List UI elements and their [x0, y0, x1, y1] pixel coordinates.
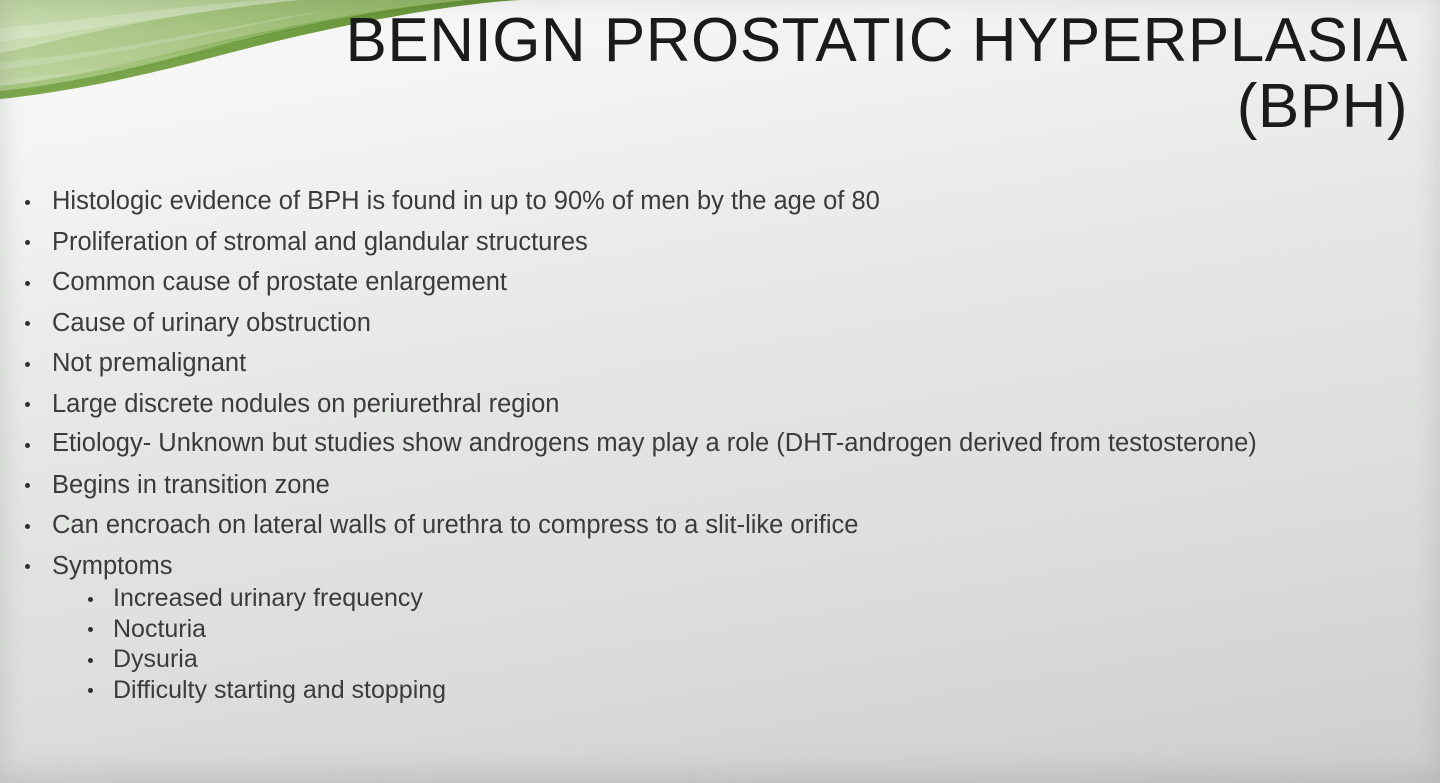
sub-bullet-item: Increased urinary frequency	[52, 583, 1312, 614]
bullet-text: Not premalignant	[52, 350, 1312, 377]
bullet-list-level-1: Histologic evidence of BPH is found in u…	[0, 188, 1400, 705]
sub-bullet-text: Dysuria	[113, 645, 198, 673]
bullet-item: Cause of urinary obstruction	[0, 310, 1312, 337]
bullet-point-icon	[25, 524, 30, 529]
sub-bullet-item: Dysuria	[52, 644, 1312, 675]
bullet-list-level-2: Increased urinary frequency Nocturia Dys…	[52, 583, 1312, 705]
bullet-point-icon	[25, 281, 30, 286]
bullet-item: Begins in transition zone	[0, 472, 1312, 499]
bullet-item: Not premalignant	[0, 350, 1312, 377]
bullet-point-icon	[25, 402, 30, 407]
bullet-item: Common cause of prostate enlargement	[0, 269, 1312, 296]
bullet-text: Can encroach on lateral walls of urethra…	[52, 512, 1312, 539]
bullet-point-icon	[88, 597, 93, 602]
bullet-point-icon	[88, 627, 93, 632]
slide-title-line-1: BENIGN PROSTATIC HYPERPLASIA	[330, 8, 1408, 74]
sub-bullet-text: Difficulty starting and stopping	[113, 676, 446, 704]
bullet-text: Etiology- Unknown but studies show andro…	[52, 431, 1312, 455]
bullet-text: Large discrete nodules on periurethral r…	[52, 391, 1312, 418]
bullet-item: Can encroach on lateral walls of urethra…	[0, 512, 1312, 539]
bullet-text: Common cause of prostate enlargement	[52, 269, 1312, 296]
bullet-point-icon	[25, 200, 30, 205]
sub-bullet-item: Nocturia	[52, 614, 1312, 645]
bullet-item: Etiology- Unknown but studies show andro…	[0, 431, 1312, 455]
bullet-point-icon	[25, 362, 30, 367]
slide-title-line-2: (BPH)	[330, 74, 1408, 140]
bullet-item: Histologic evidence of BPH is found in u…	[0, 188, 1312, 215]
bullet-point-icon	[25, 240, 30, 245]
bullet-text: Symptoms	[52, 553, 1312, 580]
bullet-text: Begins in transition zone	[52, 472, 1312, 499]
slide-title: BENIGN PROSTATIC HYPERPLASIA (BPH)	[330, 8, 1408, 141]
sub-bullet-item: Difficulty starting and stopping	[52, 675, 1312, 706]
bullet-item: Large discrete nodules on periurethral r…	[0, 391, 1312, 418]
bullet-item-symptoms: Symptoms Increased urinary frequency Noc…	[0, 553, 1312, 706]
sub-bullet-text: Increased urinary frequency	[113, 584, 423, 612]
bullet-text: Proliferation of stromal and glandular s…	[52, 229, 1312, 256]
bullet-point-icon	[88, 658, 93, 663]
bullet-point-icon	[25, 483, 30, 488]
slide-body: Histologic evidence of BPH is found in u…	[0, 188, 1400, 719]
bullet-point-icon	[25, 321, 30, 326]
presentation-slide: BENIGN PROSTATIC HYPERPLASIA (BPH) Histo…	[0, 0, 1440, 783]
bullet-text: Histologic evidence of BPH is found in u…	[52, 188, 1312, 215]
bullet-point-icon	[25, 564, 30, 569]
bullet-point-icon	[25, 443, 30, 448]
bullet-item: Proliferation of stromal and glandular s…	[0, 229, 1312, 256]
bullet-point-icon	[88, 688, 93, 693]
bullet-text: Cause of urinary obstruction	[52, 310, 1312, 337]
sub-bullet-text: Nocturia	[113, 615, 206, 643]
